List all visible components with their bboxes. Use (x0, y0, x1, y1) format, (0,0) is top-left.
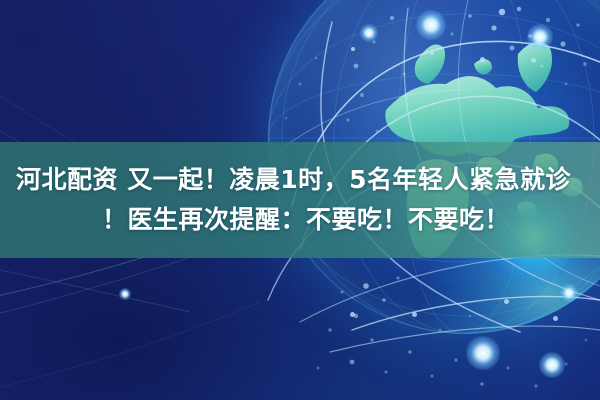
headline-line-1: 河北配资 又一起！凌晨1时，5名年轻人紧急就诊 (16, 160, 571, 200)
headline-text: 河北配资 又一起！凌晨1时，5名年轻人紧急就诊 ！医生再次提醒：不要吃！不要吃！ (0, 142, 600, 258)
headline-line-2: ！医生再次提醒：不要吃！不要吃！ (102, 200, 596, 240)
banner-image: 河北配资 又一起！凌晨1时，5名年轻人紧急就诊 ！医生再次提醒：不要吃！不要吃！ (0, 0, 600, 400)
